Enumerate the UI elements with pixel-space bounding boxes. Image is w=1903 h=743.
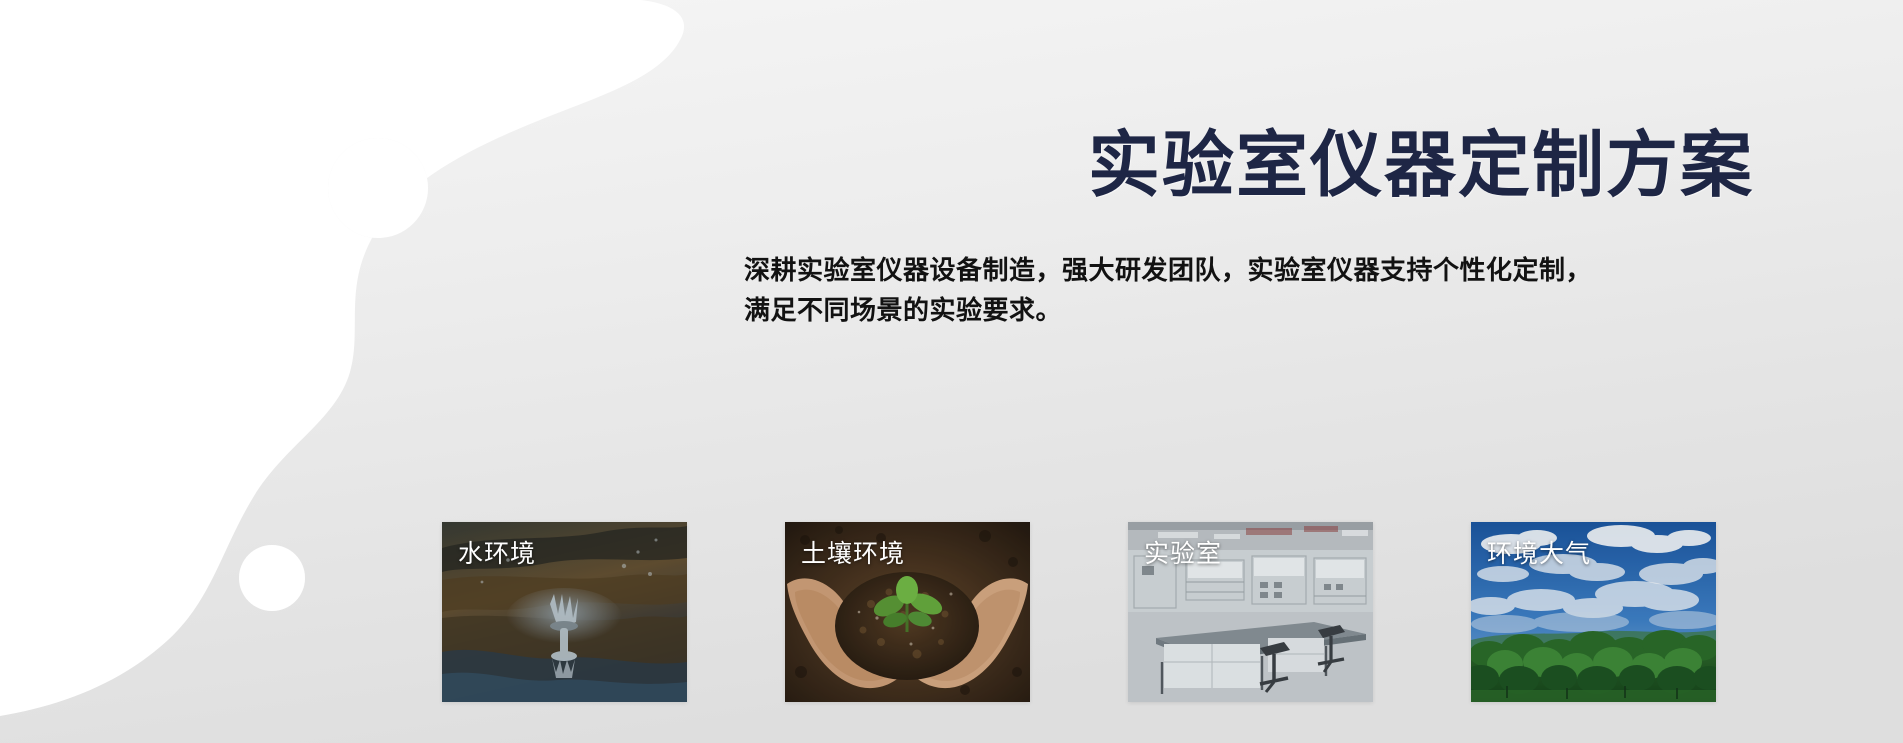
subtitle-line-2: 满足不同场景的实验要求。 bbox=[744, 290, 1754, 330]
category-card-label: 水环境 bbox=[458, 534, 536, 570]
category-card-label: 土壤环境 bbox=[801, 534, 905, 570]
page-title: 实验室仪器定制方案 bbox=[744, 130, 1754, 202]
category-card-label: 环境大气 bbox=[1487, 534, 1591, 570]
category-card-atmosphere[interactable]: 环境大气 bbox=[1471, 522, 1716, 702]
headline-block: 实验室仪器定制方案 深耕实验室仪器设备制造，强大研发团队，实验室仪器支持个性化定… bbox=[744, 130, 1754, 331]
hero-banner: 实验室仪器定制方案 深耕实验室仪器设备制造，强大研发团队，实验室仪器支持个性化定… bbox=[0, 0, 1903, 743]
category-card-list: 水环境 bbox=[442, 522, 1470, 702]
page-subtitle: 深耕实验室仪器设备制造，强大研发团队，实验室仪器支持个性化定制， 满足不同场景的… bbox=[744, 250, 1754, 331]
decor-circle-lower bbox=[239, 545, 305, 611]
decor-circle-upper bbox=[328, 138, 428, 238]
category-card-laboratory[interactable]: 实验室 bbox=[1128, 522, 1373, 702]
category-card-water[interactable]: 水环境 bbox=[442, 522, 687, 702]
subtitle-line-1: 深耕实验室仪器设备制造，强大研发团队，实验室仪器支持个性化定制， bbox=[744, 250, 1754, 290]
category-card-label: 实验室 bbox=[1144, 534, 1222, 570]
category-card-soil[interactable]: 土壤环境 bbox=[785, 522, 1030, 702]
